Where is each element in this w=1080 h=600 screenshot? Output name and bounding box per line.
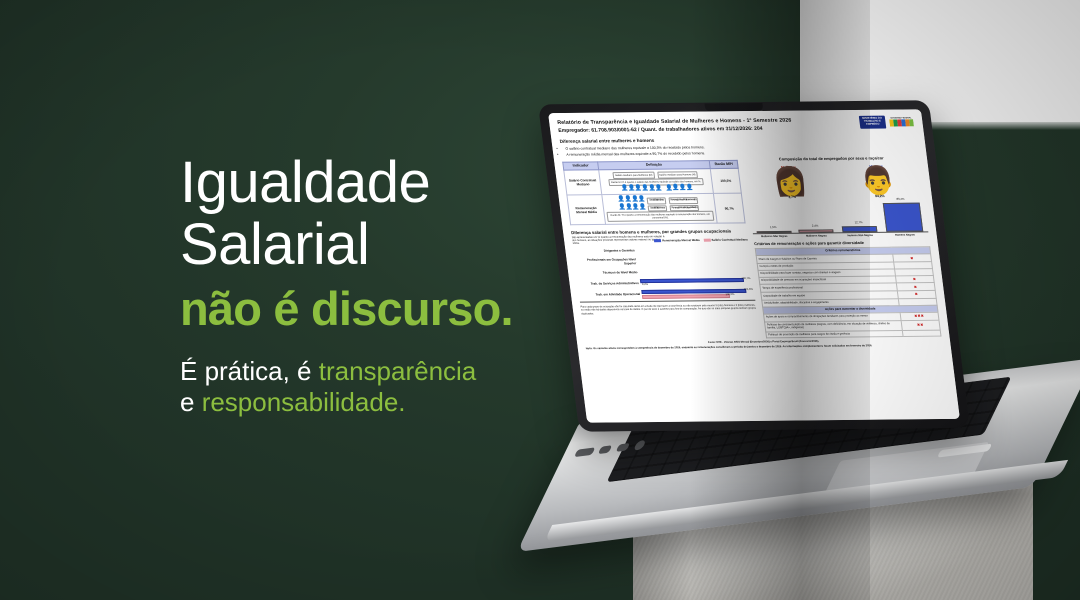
subheadline-accent-1: transparência bbox=[319, 356, 477, 386]
criteria-mark bbox=[902, 330, 941, 337]
report-document: MINISTÉRIO DO TRABALHO E EMPREGO GOVERNO… bbox=[548, 109, 960, 422]
gov-br-logo-icon: GOVERNO FEDERAL bbox=[889, 115, 915, 128]
bar-value: 12,7% bbox=[854, 221, 862, 225]
port-hdmi-icon bbox=[574, 447, 595, 457]
subheadline-part-1: É prática, é bbox=[180, 356, 319, 386]
bar-category: Homens Não Negros bbox=[847, 234, 873, 237]
row-ratio-value: 90,7% bbox=[713, 194, 745, 224]
bar-label: Trab. de Serviços Administrativos bbox=[577, 282, 641, 286]
table-row: Remuneração Mensal Média 👤👤👤👤 Somatório … bbox=[567, 194, 745, 225]
criteria-mark: ✖✖ bbox=[901, 320, 941, 330]
laptop: MINISTÉRIO DO TRABALHO E EMPREGO GOVERNO… bbox=[540, 95, 1080, 515]
bar-value: 101,8% bbox=[744, 287, 753, 290]
chart-footnote: Para cada grupo de ocupação não foi calc… bbox=[580, 304, 757, 316]
criteria-table: Critérios remuneratórios Plano de Cargos… bbox=[755, 247, 942, 339]
bar-category: Mulheres Negras bbox=[806, 234, 827, 237]
man-pictogram-icon: 👨 bbox=[859, 168, 897, 195]
legend-item-salary: Salário Contratual Mediano bbox=[703, 239, 748, 243]
bar-value: 8,2% bbox=[642, 283, 648, 286]
figure-men: Homens 👨 94,2% bbox=[858, 164, 897, 198]
bar-value: 1,5% bbox=[770, 226, 777, 230]
bar-track: 101,8% 100,0% bbox=[642, 288, 756, 300]
row-indicator-label: Remuneração Mensal Média bbox=[567, 195, 606, 225]
col-header-ratio: Razão M/H bbox=[709, 160, 738, 169]
bar-label: Técnicos de Nível Médio bbox=[576, 271, 640, 275]
bar-value: 83,4% bbox=[896, 198, 904, 202]
document-left-column: Indicador Definição Razão M/H Salário Co… bbox=[562, 158, 760, 341]
port-usbc-1-icon bbox=[598, 445, 613, 454]
legend-item-remuneration: Remuneração Mensal Média bbox=[654, 239, 700, 243]
bar-label: Profissionais em Ocupações Nível Superio… bbox=[574, 258, 638, 266]
laptop-lid: MINISTÉRIO DO TRABALHO E EMPREGO GOVERNO… bbox=[538, 100, 970, 431]
bar-label: Trab. em Atividade Operacional bbox=[579, 293, 643, 297]
bar-item: 83,4% Homens Negros bbox=[882, 203, 922, 232]
bar-label: Dirigentes e Gerentes bbox=[573, 249, 637, 253]
laptop-screen[interactable]: MINISTÉRIO DO TRABALHO E EMPREGO GOVERNO… bbox=[548, 109, 960, 422]
col-header-indicator: Indicador bbox=[563, 162, 599, 171]
bar-value: 100,7% bbox=[741, 277, 750, 280]
criteria-label: Políticas de promoção de mulheres para c… bbox=[766, 330, 903, 338]
bar-row: Trab. em Atividade Operacional 101,8% 10… bbox=[578, 288, 755, 301]
gov-br-logo-bars bbox=[889, 120, 914, 127]
composition-figures: Mulheres 👩 3,7% Homens 👨 94,2% bbox=[744, 164, 924, 200]
row-ratio-value: 100,5% bbox=[710, 169, 741, 194]
table-row: Políticas de promoção de mulheres para c… bbox=[766, 330, 941, 339]
definition-note: Razão M / H é quanto a remuneração das m… bbox=[606, 211, 714, 222]
port-audio-jack-icon bbox=[633, 440, 647, 451]
woman-pictogram-icon: 👩 bbox=[771, 169, 809, 196]
row-definition-cell: Salário mediano para Mulheres (M) Salári… bbox=[599, 169, 714, 195]
document-columns: Indicador Definição Razão M/H Salário Co… bbox=[562, 156, 942, 341]
row-definition-cell: 👤👤👤👤 Somatório Total de Mulheres Remuner… bbox=[602, 194, 717, 225]
table-row: Salário Contratual Mediano Salário media… bbox=[564, 169, 742, 196]
bar-value: 100,0% bbox=[725, 293, 734, 296]
row-indicator-label: Salário Contratual Mediano bbox=[564, 170, 602, 195]
bar-item: 2,4% Mulheres Negras bbox=[798, 229, 833, 232]
composition-bar-chart: 1,5% Mulheres Não Negras 2,4% Mulheres N… bbox=[749, 199, 929, 235]
bar-value: 2,4% bbox=[812, 225, 819, 229]
document-logos: MINISTÉRIO DO TRABALHO E EMPREGO GOVERNO… bbox=[859, 115, 914, 128]
subheadline-accent-2: responsabilidade. bbox=[202, 387, 406, 417]
occupational-bar-chart: Dirigentes e Gerentes Profissionais em O… bbox=[573, 244, 756, 302]
subheadline-part-2: e bbox=[180, 387, 202, 417]
port-usbc-2-icon bbox=[616, 443, 631, 452]
document-right-column: Composição do total de empregados por se… bbox=[743, 156, 941, 339]
figure-women: Mulheres 👩 3,7% bbox=[771, 165, 810, 199]
pictogram-row-salary: 👤👤👤👤👤👤 👤👤👤👤 bbox=[602, 185, 711, 192]
ministry-logo-icon: MINISTÉRIO DO TRABALHO E EMPREGO bbox=[859, 116, 887, 129]
bar-item: 1,5% Mulheres Não Negras bbox=[756, 231, 791, 233]
indicators-table: Indicador Definição Razão M/H Salário Co… bbox=[562, 160, 745, 226]
bar-category: Homens Negros bbox=[895, 233, 915, 236]
poster-canvas: Igualdade Salarial não é discurso. É prá… bbox=[0, 0, 1080, 600]
composition-title: Composição do total de empregados por se… bbox=[743, 156, 919, 163]
bar-category: Mulheres Não Negras bbox=[761, 235, 788, 238]
bar-item: 12,7% Homens Não Negros bbox=[842, 226, 878, 232]
